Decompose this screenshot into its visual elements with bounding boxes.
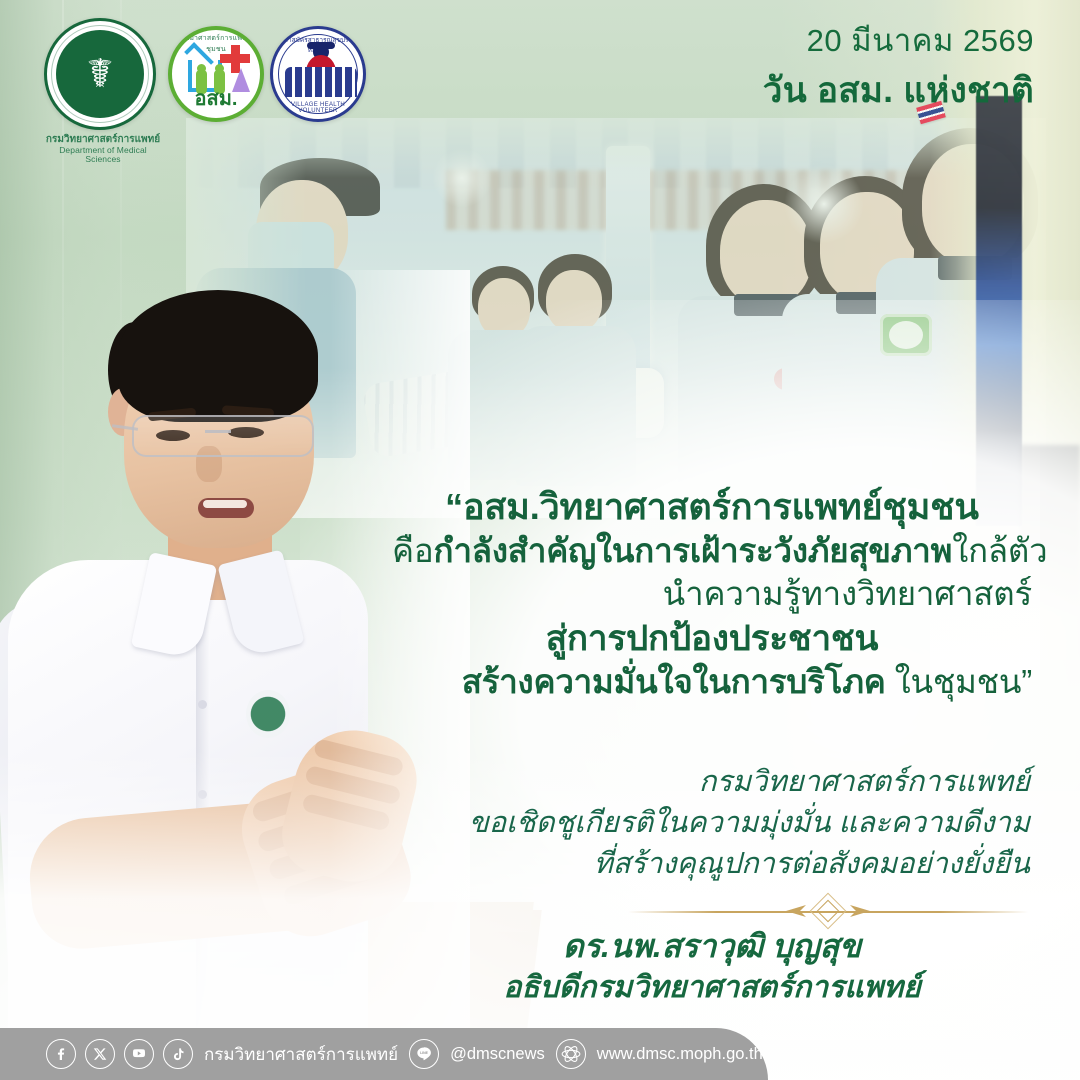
quote-line: สู่การปกป้องประชาชน	[392, 616, 1032, 661]
poster-canvas: ☤ กรมวิทยาศาสตร์การแพทย์ Department of M…	[0, 0, 1080, 1080]
quote-segment: ใกล้ตัว	[952, 532, 1047, 569]
quote-line: สร้างความมั่นใจในการบริโภค ในชุมชน”	[392, 661, 1032, 704]
logo-osm: วิทยาศาสตร์การแพทย์ชุมชน อสม.	[168, 26, 264, 122]
quote-segment: นำความรู้ทางวิทยาศาสตร์	[663, 575, 1032, 612]
vhv-ring-text-en: VILLAGE HEALTH VOLUNTEER	[273, 102, 363, 114]
date-headline-block: 20 มีนาคม 2569 วัน อสม. แห่งชาติ	[763, 22, 1034, 118]
tiktok-icon[interactable]	[163, 1039, 193, 1069]
logo-ministry-of-public-health: ☤ กรมวิทยาศาสตร์การแพทย์ Department of M…	[44, 18, 162, 165]
line-icon[interactable]: LINE	[409, 1039, 439, 1069]
logo-caption-thai: กรมวิทยาศาสตร์การแพทย์	[46, 134, 160, 145]
event-date: 20 มีนาคม 2569	[763, 22, 1034, 61]
quote-line: “อสม.วิทยาศาสตร์การแพทย์ชุมชน	[392, 484, 1032, 530]
eyeglasses	[132, 415, 314, 457]
osm-mark-text: อสม.	[172, 82, 260, 114]
tribute-line: ขอเชิดชูเกียรติในความมุ่งมั่น และความดีง…	[430, 803, 1030, 844]
quote-line: นำความรู้ทางวิทยาศาสตร์	[392, 573, 1032, 616]
logo-caption-en: Department of Medical Sciences	[44, 146, 162, 166]
quote-segment: คือ	[392, 532, 434, 569]
moph-seal-icon: ☤	[44, 18, 156, 130]
svg-text:LINE: LINE	[420, 1051, 429, 1055]
footer-line-handle: @dmscnews	[450, 1045, 545, 1064]
footer-org-name: กรมวิทยาศาสตร์การแพทย์	[204, 1041, 398, 1068]
tribute-line: กรมวิทยาศาสตร์การแพทย์	[430, 762, 1030, 803]
x-twitter-icon[interactable]	[85, 1039, 115, 1069]
event-title: วัน อสม. แห่งชาติ	[763, 63, 1034, 118]
quote-segment: กำลังสำคัญในการเฝ้าระวังภัยสุขภาพ	[434, 532, 953, 569]
vhv-seal-icon: อาสาสมัครสาธารณสุขประจำหมู่บ้าน VILLAGE …	[270, 26, 366, 122]
globe-icon[interactable]	[556, 1039, 586, 1069]
osm-seal-icon: วิทยาศาสตร์การแพทย์ชุมชน อสม.	[168, 26, 264, 122]
logo-caption: กรมวิทยาศาสตร์การแพทย์ Department of Med…	[44, 134, 162, 165]
youtube-icon[interactable]	[124, 1039, 154, 1069]
quote-segment: สู่การปกป้องประชาชน	[546, 619, 878, 658]
signer-role: อธิบดีกรมวิทยาศาสตร์การแพทย์	[402, 968, 1022, 1007]
quote-block: “อสม.วิทยาศาสตร์การแพทย์ชุมชน คือกำลังสำ…	[392, 484, 1032, 703]
facebook-icon[interactable]	[46, 1039, 76, 1069]
footer-website: www.dmsc.moph.go.th	[597, 1045, 763, 1064]
signature-block: ดร.นพ.สราวุฒิ บุญสุข อธิบดีกรมวิทยาศาสตร…	[402, 926, 1022, 1007]
gold-divider-ornament	[628, 896, 1028, 926]
tribute-line: ที่สร้างคุณูปการต่อสังคมอย่างยั่งยืน	[430, 844, 1030, 885]
logo-village-health-volunteer: อาสาสมัครสาธารณสุขประจำหมู่บ้าน VILLAGE …	[270, 26, 366, 122]
shirt-emblem	[246, 690, 290, 738]
quote-segment: ในชุมชน”	[886, 663, 1032, 700]
quote-segment: สร้างความมั่นใจในการบริโภค	[462, 663, 886, 700]
quote-line: คือกำลังสำคัญในการเฝ้าระวังภัยสุขภาพใกล้…	[392, 530, 1032, 573]
footer-bar: กรมวิทยาศาสตร์การแพทย์ LINE @dmscnews ww…	[0, 1028, 768, 1080]
logo-group: ☤ กรมวิทยาศาสตร์การแพทย์ Department of M…	[44, 18, 366, 165]
quote-segment: “อสม.วิทยาศาสตร์การแพทย์ชุมชน	[445, 486, 979, 527]
tribute-text: กรมวิทยาศาสตร์การแพทย์ ขอเชิดชูเกียรติใน…	[430, 762, 1030, 886]
signer-name: ดร.นพ.สราวุฒิ บุญสุข	[402, 926, 1022, 968]
